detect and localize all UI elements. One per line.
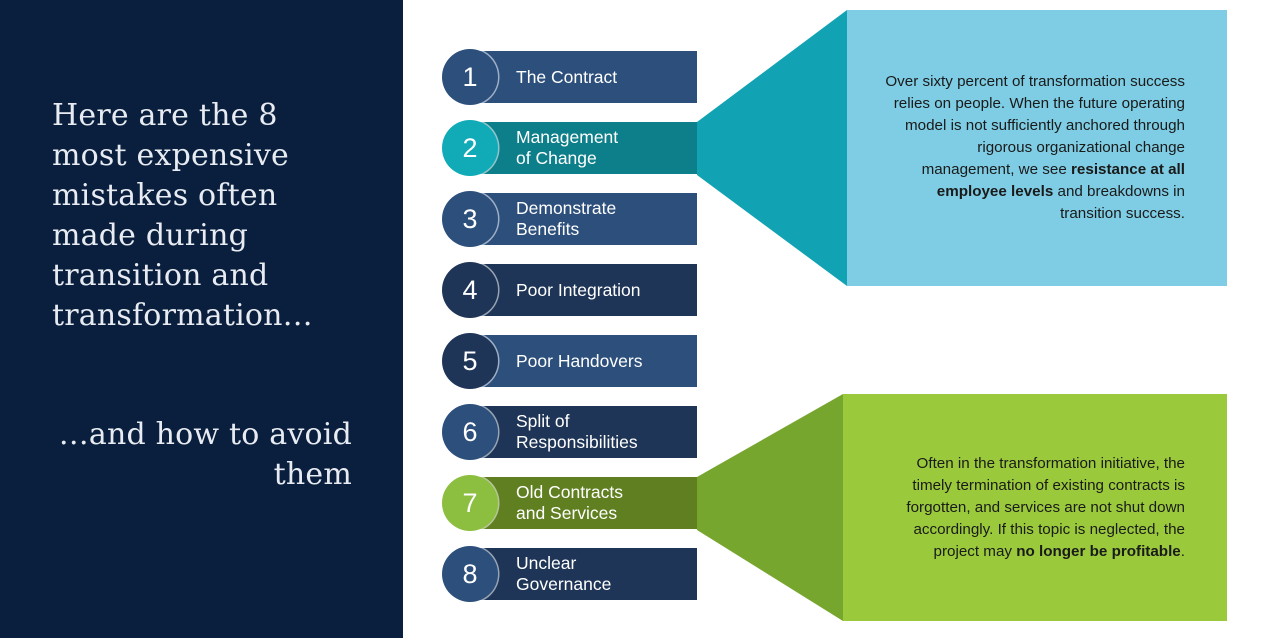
list-item-number-badge: 7: [442, 475, 498, 531]
list-item-8[interactable]: UnclearGovernance8: [466, 548, 697, 600]
list-item-5[interactable]: Poor Handovers5: [466, 335, 697, 387]
list-item-1[interactable]: The Contract1: [466, 51, 697, 103]
list-item-label-line2: Responsibilities: [516, 432, 638, 453]
list-item-2[interactable]: Managementof Change2: [466, 122, 697, 174]
list-item-label-line1: Split of: [516, 411, 638, 432]
list-item-label: Managementof Change: [516, 122, 694, 174]
list-item-label: Split ofResponsibilities: [516, 406, 694, 458]
list-item-label: Old Contractsand Services: [516, 477, 694, 529]
list-item-3[interactable]: DemonstrateBenefits3: [466, 193, 697, 245]
list-item-number-badge: 2: [442, 120, 498, 176]
list-item-label-line1: Old Contracts: [516, 482, 623, 503]
callout-1-text-after: and breakdowns in transition success.: [1053, 183, 1185, 222]
list-item-label-line1: Poor Handovers: [516, 351, 642, 372]
list-item-label: UnclearGovernance: [516, 548, 694, 600]
list-item-label-line2: and Services: [516, 503, 623, 524]
list-item-number-badge: 6: [442, 404, 498, 460]
list-item-number-badge: 8: [442, 546, 498, 602]
list-item-label-line2: Benefits: [516, 219, 616, 240]
callout-box-old-contracts: Often in the transformation initiative, …: [843, 394, 1227, 621]
list-item-number-badge: 5: [442, 333, 498, 389]
mistakes-list: The Contract1Managementof Change2Demonst…: [0, 0, 720, 638]
list-item-number-badge: 4: [442, 262, 498, 318]
list-item-label-line1: Poor Integration: [516, 280, 641, 301]
list-item-label: DemonstrateBenefits: [516, 193, 694, 245]
list-item-label-line2: Governance: [516, 574, 611, 595]
list-item-label: Poor Handovers: [516, 335, 694, 387]
list-item-number-badge: 1: [442, 49, 498, 105]
list-item-label-line1: Demonstrate: [516, 198, 616, 219]
list-item-label-line1: Unclear: [516, 553, 611, 574]
list-item-label-line1: Management: [516, 127, 618, 148]
list-item-number-badge: 3: [442, 191, 498, 247]
list-item-label-line2: of Change: [516, 148, 618, 169]
list-item-label: Poor Integration: [516, 264, 694, 316]
callout-2-text-after: .: [1181, 543, 1185, 560]
callout-text-change-management: Over sixty percent of transformation suc…: [885, 71, 1185, 225]
list-item-4[interactable]: Poor Integration4: [466, 264, 697, 316]
callout-text-old-contracts: Often in the transformation initiative, …: [881, 453, 1185, 563]
list-item-label-line1: The Contract: [516, 67, 617, 88]
slide-canvas: Here are the 8 most expensive mistakes o…: [0, 0, 1280, 638]
list-item-6[interactable]: Split ofResponsibilities6: [466, 406, 697, 458]
callout-2-bold: no longer be profitable: [1016, 543, 1181, 560]
callout-box-change-management: Over sixty percent of transformation suc…: [847, 10, 1227, 286]
list-item-label: The Contract: [516, 51, 694, 103]
list-item-7[interactable]: Old Contractsand Services7: [466, 477, 697, 529]
